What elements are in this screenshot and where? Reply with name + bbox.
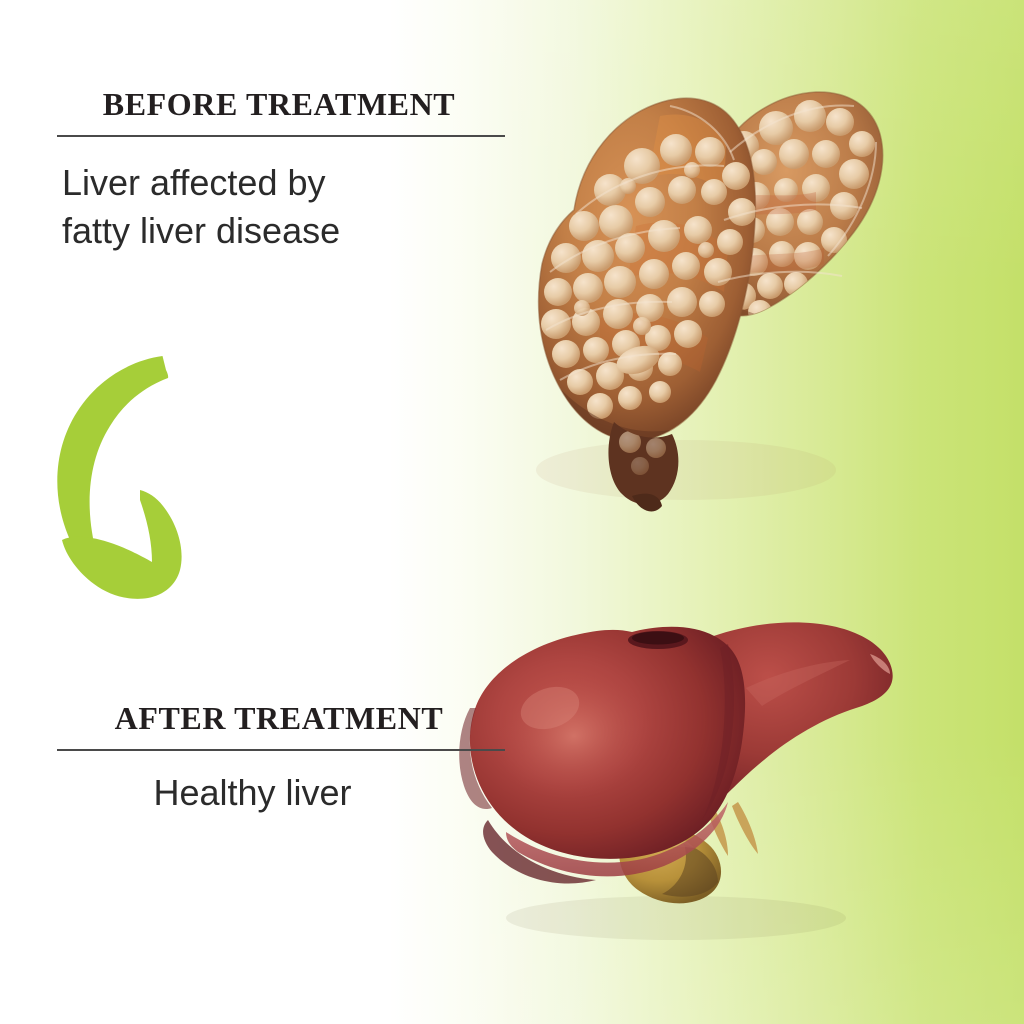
after-heading-rule [57,749,505,751]
after-treatment-label-block: AFTER TREATMENT Healthy liver [0,700,520,817]
arrow-svg [44,352,224,600]
healthy-liver-svg [446,596,946,946]
diseased-liver-illustration [424,50,924,520]
healthy-liver-body [459,622,892,883]
diseased-liver-left-lobe [530,98,756,450]
diseased-liver-svg [424,50,924,520]
after-treatment-heading: AFTER TREATMENT [0,700,520,737]
diseased-liver-shadow [536,440,836,500]
curved-down-arrow-icon [44,352,224,600]
liver-treatment-infographic: BEFORE TREATMENT Liver affected by fatty… [0,0,1024,1024]
healthy-liver-illustration [446,596,946,946]
after-treatment-caption: Healthy liver [0,769,448,817]
ivc-opening [628,631,688,649]
